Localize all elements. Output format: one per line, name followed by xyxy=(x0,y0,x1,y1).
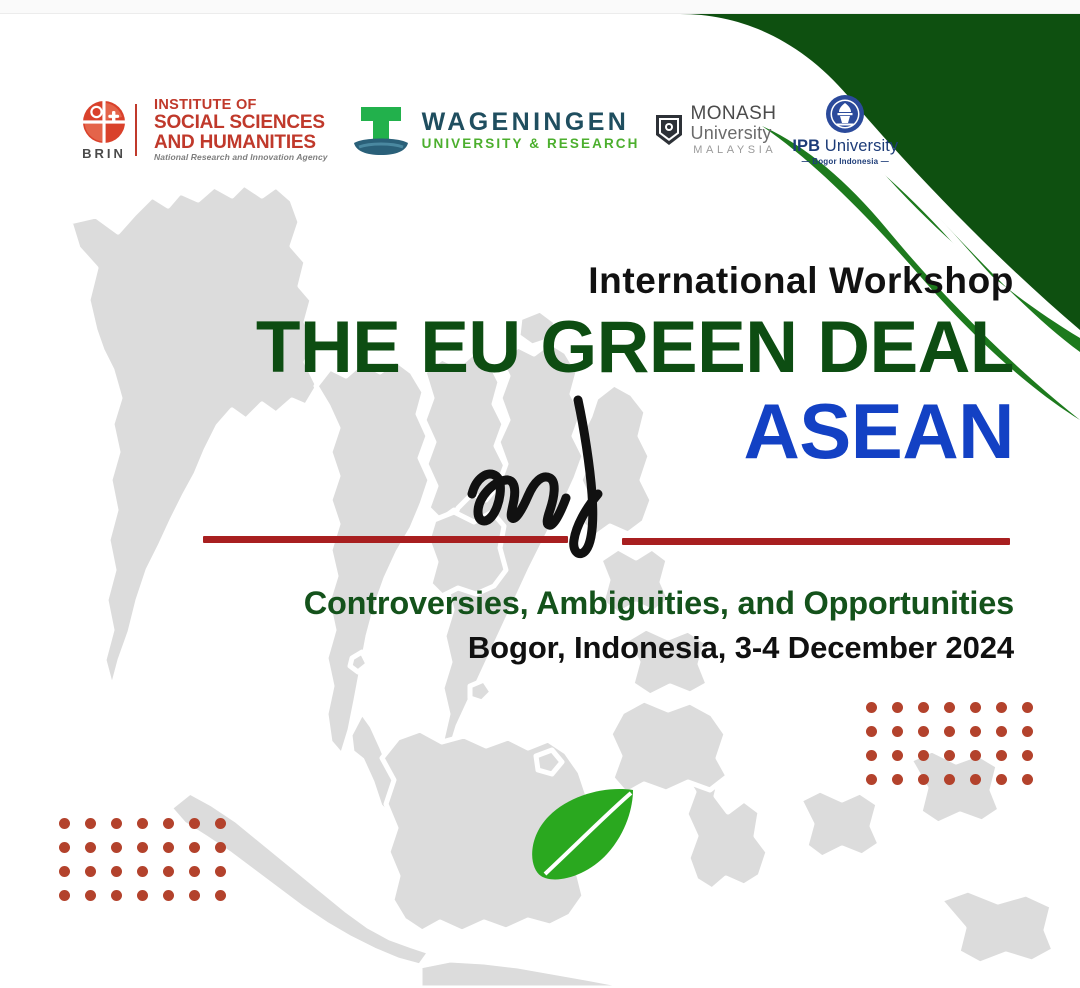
decorative-dot xyxy=(85,818,96,829)
decorative-dot xyxy=(163,818,174,829)
partner-logo-bar: BRIN INSTITUTE OF SOCIAL SCIENCES AND HU… xyxy=(82,94,898,166)
brin-wordmark: BRIN xyxy=(82,146,126,161)
decorative-dot xyxy=(189,842,200,853)
decorative-dot xyxy=(163,842,174,853)
ipb-name-bold: IPB xyxy=(792,137,820,155)
decorative-dot xyxy=(944,774,955,785)
divider-rule-right xyxy=(622,538,1010,545)
decorative-dot xyxy=(59,842,70,853)
brin-logo-icon xyxy=(82,100,126,144)
decorative-dot xyxy=(866,702,877,713)
workshop-kicker: International Workshop xyxy=(0,262,1014,299)
decorative-dot xyxy=(918,774,929,785)
decorative-dot xyxy=(918,750,929,761)
decorative-dot xyxy=(111,842,122,853)
monash-shield-icon xyxy=(654,113,684,147)
brin-line-3: AND HUMANITIES xyxy=(154,133,328,152)
decorative-dot xyxy=(163,890,174,901)
poster-subtitle: Controversies, Ambiguities, and Opportun… xyxy=(0,585,1014,621)
leaf-icon xyxy=(515,784,655,884)
decorative-dot xyxy=(59,866,70,877)
decorative-dot xyxy=(163,866,174,877)
dot-grid-bottom-left xyxy=(59,818,226,901)
decorative-dot xyxy=(111,818,122,829)
decorative-dot xyxy=(892,726,903,737)
decorative-dot xyxy=(970,750,981,761)
wageningen-line-2: UNIVERSITY & RESEARCH xyxy=(422,136,640,151)
decorative-dot xyxy=(1022,750,1033,761)
decorative-dot xyxy=(996,726,1007,737)
decorative-dot xyxy=(137,818,148,829)
divider-rule-left xyxy=(203,536,568,543)
ipb-name: IPB University xyxy=(792,137,898,156)
decorative-dot xyxy=(1022,702,1033,713)
decorative-dot xyxy=(996,702,1007,713)
logo-ipb: IPB University — Bogor Indonesia — xyxy=(786,94,898,166)
decorative-dot xyxy=(189,818,200,829)
decorative-dot xyxy=(1022,774,1033,785)
logo-wageningen: WAGENINGEN UNIVERSITY & RESEARCH xyxy=(342,94,654,166)
logo-brin: BRIN INSTITUTE OF SOCIAL SCIENCES AND HU… xyxy=(82,94,342,166)
decorative-dot xyxy=(189,890,200,901)
brin-divider xyxy=(135,104,137,156)
decorative-dot xyxy=(970,702,981,713)
decorative-dot xyxy=(59,890,70,901)
decorative-dot xyxy=(996,774,1007,785)
monash-line-2: University xyxy=(691,124,777,143)
decorative-dot xyxy=(215,842,226,853)
decorative-dot xyxy=(137,842,148,853)
poster-venue-date: Bogor, Indonesia, 3-4 December 2024 xyxy=(0,631,1014,665)
and-script-word xyxy=(462,382,662,562)
decorative-dot xyxy=(59,818,70,829)
decorative-dot xyxy=(215,890,226,901)
title-second-row: ASEAN xyxy=(0,386,1014,494)
decorative-dot xyxy=(892,750,903,761)
ipb-name-rest: University xyxy=(820,137,898,155)
subtitle-block: Controversies, Ambiguities, and Opportun… xyxy=(0,585,1014,665)
decorative-dot xyxy=(944,702,955,713)
conference-poster: BRIN INSTITUTE OF SOCIAL SCIENCES AND HU… xyxy=(0,0,1080,988)
wageningen-logo-icon xyxy=(350,101,412,159)
decorative-dot xyxy=(137,866,148,877)
decorative-dot xyxy=(85,866,96,877)
monash-line-1: MONASH xyxy=(691,104,777,124)
headline-block: International Workshop THE EU GREEN DEAL… xyxy=(0,262,1014,494)
decorative-dot xyxy=(111,866,122,877)
decorative-dot xyxy=(189,866,200,877)
monash-line-3: MALAYSIA xyxy=(691,145,777,157)
brin-line-1: INSTITUTE OF xyxy=(154,98,328,113)
decorative-dot xyxy=(215,866,226,877)
ipb-seal-icon xyxy=(825,94,865,134)
decorative-dot xyxy=(996,750,1007,761)
decorative-dot xyxy=(137,890,148,901)
decorative-dot xyxy=(892,702,903,713)
decorative-dot xyxy=(866,726,877,737)
decorative-dot xyxy=(111,890,122,901)
decorative-dot xyxy=(944,750,955,761)
decorative-dot xyxy=(944,726,955,737)
decorative-dot xyxy=(215,818,226,829)
decorative-dot xyxy=(892,774,903,785)
decorative-dot xyxy=(85,890,96,901)
poster-title-second: ASEAN xyxy=(743,392,1014,470)
poster-title-main: THE EU GREEN DEAL xyxy=(0,309,1014,388)
decorative-dot xyxy=(85,842,96,853)
decorative-dot xyxy=(970,726,981,737)
decorative-dot xyxy=(918,702,929,713)
logo-monash: MONASH University MALAYSIA xyxy=(654,94,787,166)
wageningen-line-1: WAGENINGEN xyxy=(422,108,640,136)
decorative-dot xyxy=(1022,726,1033,737)
decorative-dot xyxy=(970,774,981,785)
dot-grid-top-right xyxy=(866,702,1033,785)
brin-line-4: National Research and Innovation Agency xyxy=(154,153,328,162)
decorative-dot xyxy=(918,726,929,737)
decorative-dot xyxy=(866,750,877,761)
brin-line-2: SOCIAL SCIENCES xyxy=(154,113,328,132)
decorative-dot xyxy=(866,774,877,785)
ipb-tagline: — Bogor Indonesia — xyxy=(802,157,889,166)
